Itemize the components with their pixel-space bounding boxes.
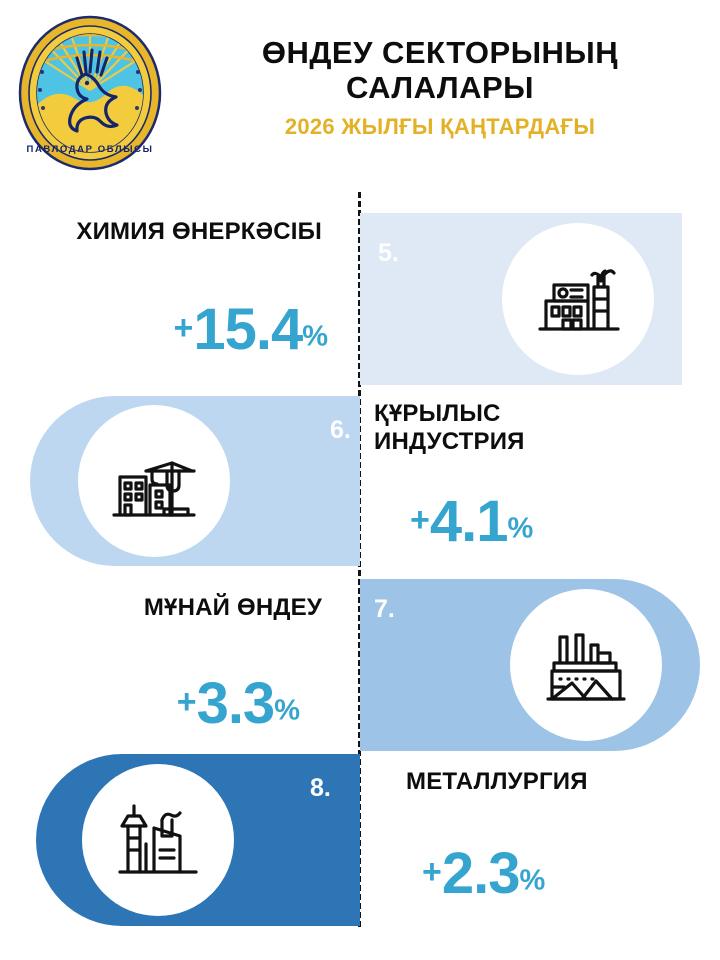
item-number-6: 6. [330, 416, 351, 445]
construction-crane-icon [106, 433, 202, 529]
value-sign: + [177, 683, 197, 721]
chart-row-metallurgy: 8. МЕТАЛЛУРГИЯ +2.3% [0, 748, 720, 934]
value-chemical-industry: +15.4% [0, 296, 352, 363]
value-number: 3.3 [197, 671, 275, 736]
category-label-oil-refining: МҰНАЙ ӨНДЕУ [0, 594, 336, 622]
value-percent: % [508, 513, 534, 545]
metallurgy-plant-icon [110, 792, 206, 888]
item-number-5: 5. [378, 239, 399, 268]
value-number: 2.3 [442, 841, 520, 906]
pavlodar-region-coat-of-arms-icon: ПАВЛОДАР ОБЛЫСЫ [14, 12, 166, 174]
emblem-caption: ПАВЛОДАР ОБЛЫСЫ [27, 144, 154, 155]
category-label-metallurgy: МЕТАЛЛУРГИЯ [374, 768, 710, 796]
category-label-line-1: ҚҰРЫЛЫС [374, 400, 501, 427]
bar-construction-industry: 6. [30, 396, 360, 566]
bar-chemical-industry: 5. [360, 213, 682, 385]
icon-disc-construction-industry [78, 405, 230, 557]
category-label-chemical-industry: ХИМИЯ ӨНЕРКӘСІБІ [0, 218, 336, 246]
chart-row-construction-industry: 6. ҚҰРЫЛЫС ИНДУСТРИЯ +4.1% [0, 388, 720, 574]
category-label-construction-industry: ҚҰРЫЛЫС ИНДУСТРИЯ [374, 400, 710, 456]
value-percent: % [520, 865, 546, 897]
value-percent: % [302, 321, 328, 353]
page-title-line-1: ӨНДЕУ СЕКТОРЫНЫҢ [180, 36, 700, 71]
item-number-8: 8. [310, 774, 331, 803]
value-sign: + [422, 853, 442, 891]
chart-row-chemical-industry: 5. ХИМИЯ ӨНЕРКӘСІБІ [0, 192, 720, 388]
info-metallurgy: МЕТАЛЛУРГИЯ +2.3% [374, 748, 710, 934]
chemical-plant-icon [530, 251, 626, 347]
value-metallurgy: +2.3% [374, 840, 710, 907]
value-number: 15.4 [193, 297, 302, 362]
bar-metallurgy: 8. [36, 754, 360, 926]
info-oil-refining: МҰНАЙ ӨНДЕУ +3.3% [0, 574, 352, 760]
info-chemical-industry: ХИМИЯ ӨНЕРКӘСІБІ +15.4% [0, 192, 352, 388]
category-label-line-2: ИНДУСТРИЯ [374, 428, 525, 455]
header: ПАВЛОДАР ОБЛЫСЫ ӨНДЕУ СЕКТОРЫНЫҢ САЛАЛАР… [0, 0, 720, 190]
oil-refinery-icon [538, 617, 634, 713]
page-subtitle: 2026 ЖЫЛҒЫ ҚАҢТАРДАҒЫ [180, 114, 700, 140]
item-number-7: 7. [374, 595, 395, 624]
bar-oil-refining: 7. [360, 579, 700, 751]
icon-disc-chemical-industry [502, 223, 654, 375]
value-percent: % [274, 695, 300, 727]
chart-row-oil-refining: 7. МҰНАЙ ӨНДЕУ +3.3% [0, 574, 720, 760]
info-construction-industry: ҚҰРЫЛЫС ИНДУСТРИЯ +4.1% [374, 388, 710, 574]
value-oil-refining: +3.3% [0, 670, 352, 737]
value-number: 4.1 [430, 489, 508, 554]
title-block: ӨНДЕУ СЕКТОРЫНЫҢ САЛАЛАРЫ 2026 ЖЫЛҒЫ ҚАҢ… [180, 36, 700, 140]
value-construction-industry: +4.1% [374, 488, 710, 555]
icon-disc-metallurgy [82, 764, 234, 916]
value-sign: + [410, 501, 430, 539]
icon-disc-oil-refining [510, 589, 662, 741]
value-sign: + [173, 309, 193, 347]
page-title-line-2: САЛАЛАРЫ [180, 71, 700, 106]
